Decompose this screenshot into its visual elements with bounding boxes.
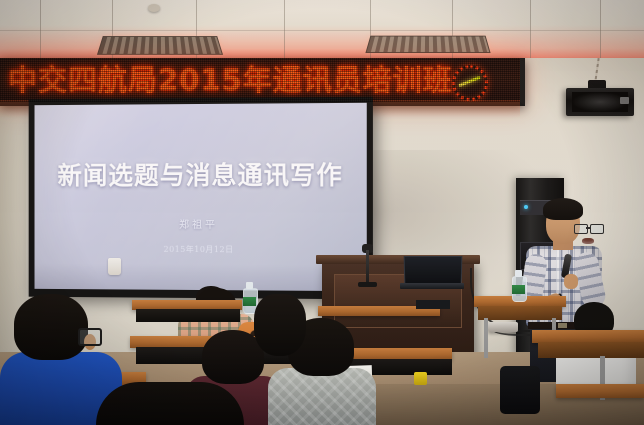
led-clock-icon xyxy=(452,65,488,101)
eyeglass-bridge-icon xyxy=(586,227,590,229)
slide-date: 2015年10月12日 xyxy=(35,243,367,255)
laptop-screen xyxy=(404,256,463,286)
bottle-cap xyxy=(246,282,253,289)
slide-title: 新闻选题与消息通讯写作 xyxy=(35,155,367,192)
patterned-shirt xyxy=(268,368,376,425)
led-clock-hand-icon xyxy=(458,76,480,87)
laptop-keyboard-base xyxy=(400,283,464,289)
head xyxy=(14,294,88,360)
desk-leg xyxy=(484,318,488,358)
lecture-hall-photo: 中交四航局2015年通讯员培训班 新闻选题与消息通讯写作 郑祖平 2015年10… xyxy=(0,0,644,425)
speaker-brand-logo xyxy=(620,97,629,104)
dark-bag xyxy=(500,366,540,414)
presenter-hair xyxy=(543,198,583,220)
led-banner-text: 中交四航局2015年通讯员培训班 xyxy=(8,62,428,98)
screen-bottom-shade xyxy=(35,263,367,291)
notebook xyxy=(416,300,450,309)
ceiling-light-fixture xyxy=(365,36,490,53)
presentation-laptop[interactable] xyxy=(400,256,462,288)
podium-microphone-base xyxy=(358,282,377,287)
long-dark-hair xyxy=(254,294,306,356)
eyeglasses-icon xyxy=(78,328,102,346)
jbl-wall-speaker xyxy=(566,88,634,116)
water-bottle xyxy=(512,270,525,300)
desk-front-panel xyxy=(478,306,562,320)
smoke-detector-icon xyxy=(148,4,160,12)
desk-front-panel xyxy=(538,342,644,358)
yellow-bottle-cap xyxy=(414,372,427,385)
bottle-label xyxy=(512,285,525,294)
eyeglass-left-lens-icon xyxy=(574,224,588,234)
desk-front-panel xyxy=(136,309,240,322)
ceiling-light-fixture xyxy=(97,36,223,55)
foreground-head xyxy=(96,382,244,425)
bottle-cap xyxy=(515,270,522,277)
podium-microphone-stem xyxy=(366,250,369,284)
presenter-right-hand xyxy=(564,274,578,289)
slide-author: 郑祖平 xyxy=(35,216,367,232)
white-cup xyxy=(108,258,121,275)
presenter-mouth xyxy=(582,238,594,244)
eyeglass-right-lens-icon xyxy=(590,224,604,234)
power-strip xyxy=(488,322,518,332)
desk-surface xyxy=(556,384,644,398)
